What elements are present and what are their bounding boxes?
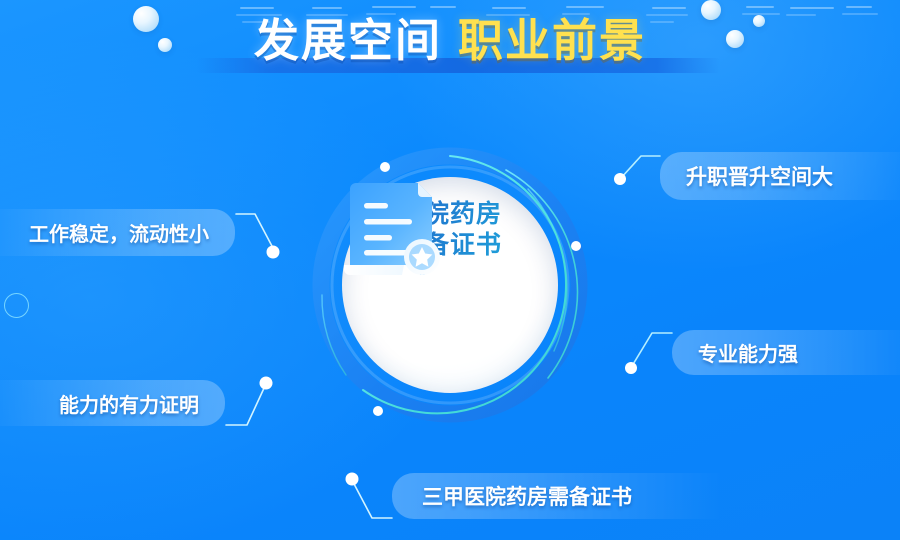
- label-text-proof: 能力的有力证明: [59, 389, 199, 418]
- label-text-promotion: 升职晋升空间大: [686, 161, 833, 191]
- title-white-part: 发展空间: [254, 15, 442, 66]
- label-pill-tertiary-hospital[interactable]: 三甲医院药房需备证书: [392, 473, 722, 519]
- bubble-decoration: [701, 0, 721, 20]
- label-pill-stability[interactable]: 工作稳定，流动性小: [0, 209, 235, 256]
- certificate-award-icon: [342, 177, 448, 289]
- ring-decoration: [4, 293, 29, 318]
- title-yellow-part: 职业前景: [458, 15, 646, 66]
- label-pill-proof[interactable]: 能力的有力证明: [0, 380, 225, 426]
- label-pill-promotion[interactable]: 升职晋升空间大: [660, 152, 900, 200]
- page-title: 发展空间职业前景: [0, 18, 900, 63]
- emblem-core-disc: 医院药房 需备证书: [342, 177, 558, 393]
- label-text-competence: 专业能力强: [698, 338, 798, 367]
- infographic-canvas: 发展空间职业前景: [0, 0, 900, 540]
- label-text-stability: 工作稳定，流动性小: [29, 218, 209, 247]
- label-text-tertiary-hospital: 三甲医院药房需备证书: [422, 481, 632, 511]
- center-emblem: 医院药房 需备证书: [300, 135, 600, 435]
- label-pill-competence[interactable]: 专业能力强: [672, 330, 900, 375]
